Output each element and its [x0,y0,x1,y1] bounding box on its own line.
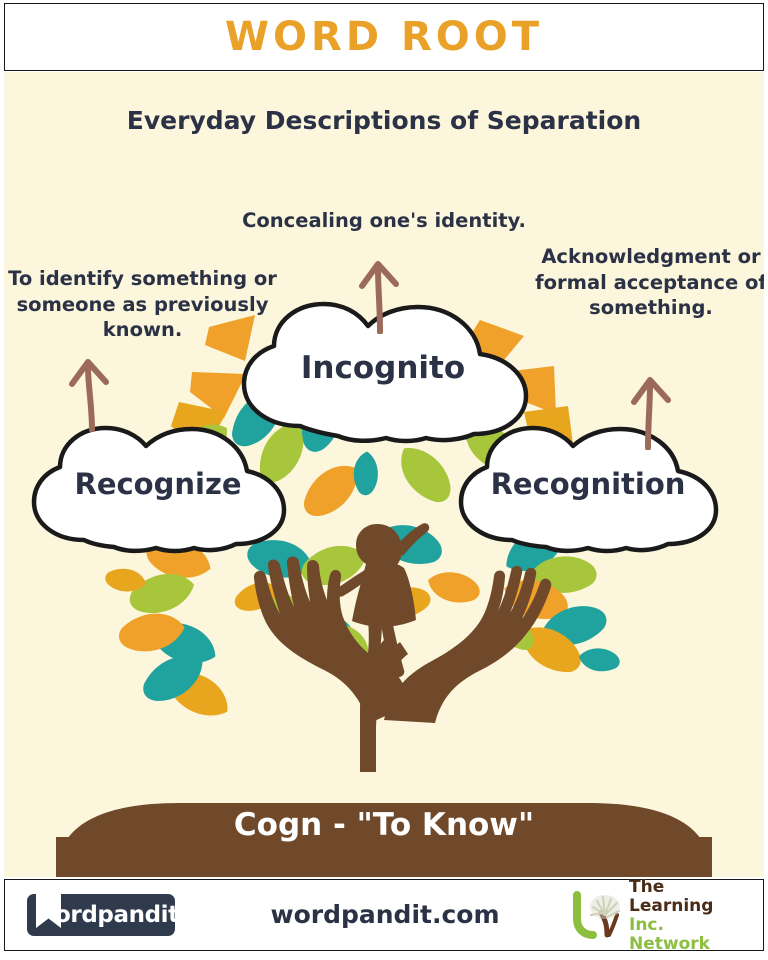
root-word: Cogn - "To Know" [4,807,764,843]
infographic-page: WORD ROOT Everyday Descriptions of Separ… [0,0,768,960]
cloud-recognize[interactable]: Recognize [22,420,294,556]
cloud-label-recognition: Recognition [448,467,728,501]
tree-logo-icon [567,891,629,941]
description-recognition: Acknowledgment or formal acceptance of s… [532,244,764,321]
infographic-body: Everyday Descriptions of Separation [4,72,764,877]
cloud-label-incognito: Incognito [228,350,538,386]
cloud-label-recognize: Recognize [22,467,294,501]
up-arrow-icon-right [626,368,674,450]
header-band: WORD ROOT [4,3,764,71]
footer-band: ordpandit wordpandit.com The Lea [4,879,764,951]
learning-inc-network-text: The Learning Inc. Network [629,878,747,954]
cloud-recognition[interactable]: Recognition [448,420,728,556]
partner-line-2: Inc. Network [629,916,747,954]
up-arrow-icon-center [356,252,404,334]
description-recognize: To identify something or someone as prev… [4,266,284,343]
learning-inc-network-logo[interactable]: The Learning Inc. Network [567,890,747,942]
description-incognito: Concealing one's identity. [189,208,579,234]
up-arrow-icon-left [66,350,114,432]
partner-line-1: The Learning [629,878,747,916]
page-title: WORD ROOT [225,17,543,57]
